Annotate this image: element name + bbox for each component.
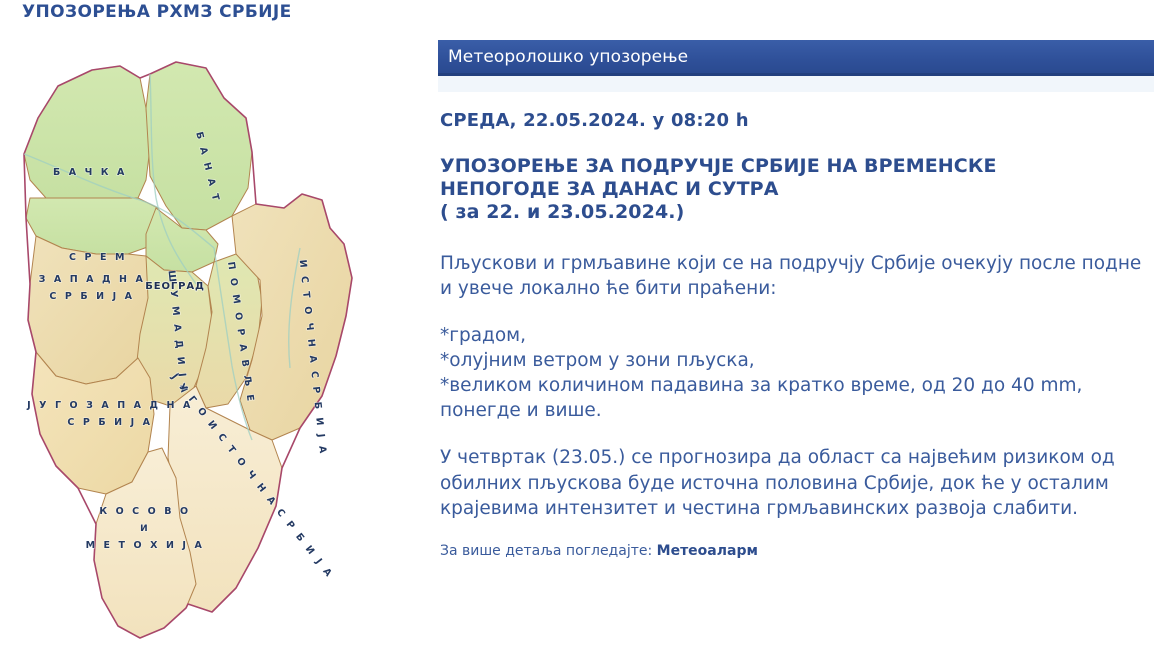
warning-paragraph-thursday: У четвртак (23.05.) се прогнозира да обл…: [440, 445, 1152, 520]
map-label-zapadna-srbija-2: С Р Б И Ј А: [49, 291, 134, 302]
warning-footer: За више детаља погледајте: Метеоаларм: [440, 543, 1152, 559]
warning-heading: УПОЗОРЕЊЕ ЗА ПОДРУЧЈЕ СРБИЈЕ НА ВРЕМЕНСК…: [440, 155, 1152, 225]
map-label-kosovo-2: И: [140, 524, 150, 534]
map-label-kosovo-3: М Е Т О Х И Ј А: [86, 540, 205, 551]
warning-paragraph-intro: Пљускови и грмљавине који се на подручју…: [440, 251, 1152, 301]
map-label-kosovo-1: К О С О В О: [99, 506, 190, 517]
map-label-srem: С Р Е М: [69, 252, 127, 263]
warning-heading-line-3: ( за 22. и 23.05.2024.): [440, 201, 1152, 224]
warning-date-line: СРЕДА, 22.05.2024. у 08:20 h: [440, 110, 1152, 131]
page-title: УПОЗОРЕЊА РХМЗ СРБИЈЕ: [22, 2, 292, 22]
serbia-region-map: Б А Ч К А Б А Н А Т С Р Е М БЕОГРАД З А …: [0, 48, 420, 672]
warning-hazard-item-wind: *олујним ветром у зони пљуска,: [440, 348, 1152, 373]
warning-body: СРЕДА, 22.05.2024. у 08:20 h УПОЗОРЕЊЕ З…: [438, 92, 1154, 559]
map-label-backa: Б А Ч К А: [53, 167, 127, 178]
warning-hazard-list: *градом, *олујним ветром у зони пљуска, …: [440, 323, 1152, 424]
warning-footer-prefix: За више детаља погледајте:: [440, 543, 657, 559]
warning-header-title: Метеоролошко упозорење: [448, 47, 688, 67]
meteoalarm-link[interactable]: Метеоаларм: [657, 543, 758, 559]
map-svg: Б А Ч К А Б А Н А Т С Р Е М БЕОГРАД З А …: [0, 48, 420, 672]
map-label-zapadna-srbija-1: З А П А Д Н А: [39, 274, 146, 285]
warning-heading-line-2: НЕПОГОДЕ ЗА ДАНАС И СУТРА: [440, 178, 1152, 201]
map-label-jugozapadna-srbija-1: Ј У Г О З А П А Д Н А: [26, 400, 193, 411]
warning-hazard-item-hail: *градом,: [440, 323, 1152, 348]
warning-header-bar: Метеоролошко упозорење: [438, 40, 1154, 76]
warning-hazard-item-rain: *великом количином падавина за кратко вр…: [440, 373, 1152, 423]
warning-heading-line-1: УПОЗОРЕЊЕ ЗА ПОДРУЧЈЕ СРБИЈЕ НА ВРЕМЕНСК…: [440, 155, 1152, 178]
warning-subheader-strip: [438, 76, 1154, 92]
map-label-jugozapadna-srbija-2: С Р Б И Ј А: [67, 417, 152, 428]
meteorological-warning-card: Метеоролошко упозорење СРЕДА, 22.05.2024…: [438, 40, 1154, 672]
